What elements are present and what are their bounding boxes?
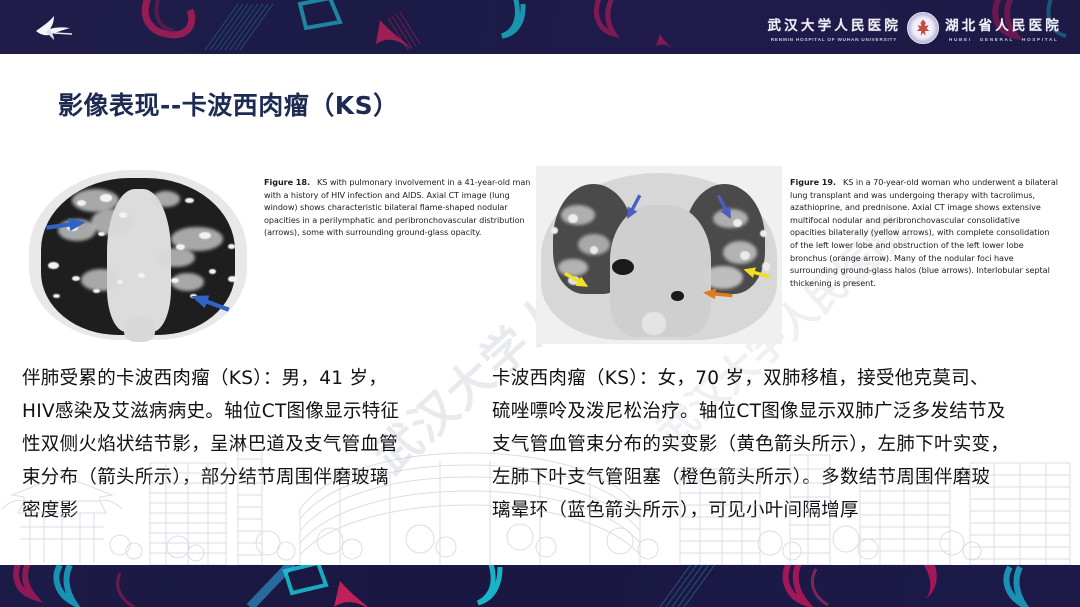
figure-18-arrow-lower-right bbox=[190, 294, 230, 312]
figure-19-label: Figure 19. bbox=[790, 177, 836, 187]
body-text-right: 卡波西肉瘤（KS）：女，70 岁，双肺移植，接受他克莫司、 硫唑嘌呤及泼尼松治疗… bbox=[492, 362, 1072, 527]
figure-19-caption-text: KS in a 70-year-old woman who underwent … bbox=[790, 177, 1058, 288]
figure-19-ct-image bbox=[536, 166, 782, 344]
figure-19-arrow-orange bbox=[703, 287, 733, 301]
figure-18-caption: Figure 18.KS with pulmonary involvement … bbox=[264, 176, 540, 239]
figure-19-arrow-yellow-right bbox=[743, 266, 770, 280]
body-text-left: 伴肺受累的卡波西肉瘤（KS）：男，41 岁， HIV感染及艾滋病病史。轴位CT图… bbox=[22, 362, 492, 527]
figure-19-arrow-blue-left bbox=[620, 200, 647, 214]
figure-18-ct-image bbox=[20, 166, 256, 344]
footer-decoration bbox=[0, 565, 1080, 607]
figure-18-arrow-upper-left bbox=[46, 216, 86, 234]
crane-logo-icon bbox=[30, 12, 74, 44]
hospital-primary-logo: 武汉大学人民医院 RENMIN HOSPITAL OF WUHAN UNIVER… bbox=[767, 14, 901, 42]
slide-footer-bar bbox=[0, 565, 1080, 607]
hospital-logo-group: 武汉大学人民医院 RENMIN HOSPITAL OF WUHAN UNIVER… bbox=[767, 8, 1062, 48]
hospital-primary-name-cn: 武汉大学人民医院 bbox=[767, 14, 901, 34]
figure-19-arrow-yellow-left bbox=[563, 273, 590, 287]
slide-header-bar: 武汉大学人民医院 RENMIN HOSPITAL OF WUHAN UNIVER… bbox=[0, 0, 1080, 54]
hospital-primary-name-en: RENMIN HOSPITAL OF WUHAN UNIVERSITY bbox=[771, 37, 897, 42]
hospital-emblem-icon bbox=[907, 12, 939, 44]
hospital-secondary-name-en: HUBEI GENERAL HOSPITAL bbox=[949, 37, 1058, 42]
header-decoration bbox=[0, 0, 700, 54]
hospital-secondary-name-cn: 湖北省人民医院 bbox=[945, 14, 1062, 34]
figure-18-label: Figure 18. bbox=[264, 177, 310, 187]
figure-19-arrow-blue-right bbox=[711, 200, 738, 214]
figure-19-caption: Figure 19.KS in a 70-year-old woman who … bbox=[790, 176, 1058, 289]
hospital-secondary-logo: 湖北省人民医院 HUBEI GENERAL HOSPITAL bbox=[945, 14, 1062, 42]
page-title: 影像表现--卡波西肉瘤（KS） bbox=[58, 86, 399, 122]
